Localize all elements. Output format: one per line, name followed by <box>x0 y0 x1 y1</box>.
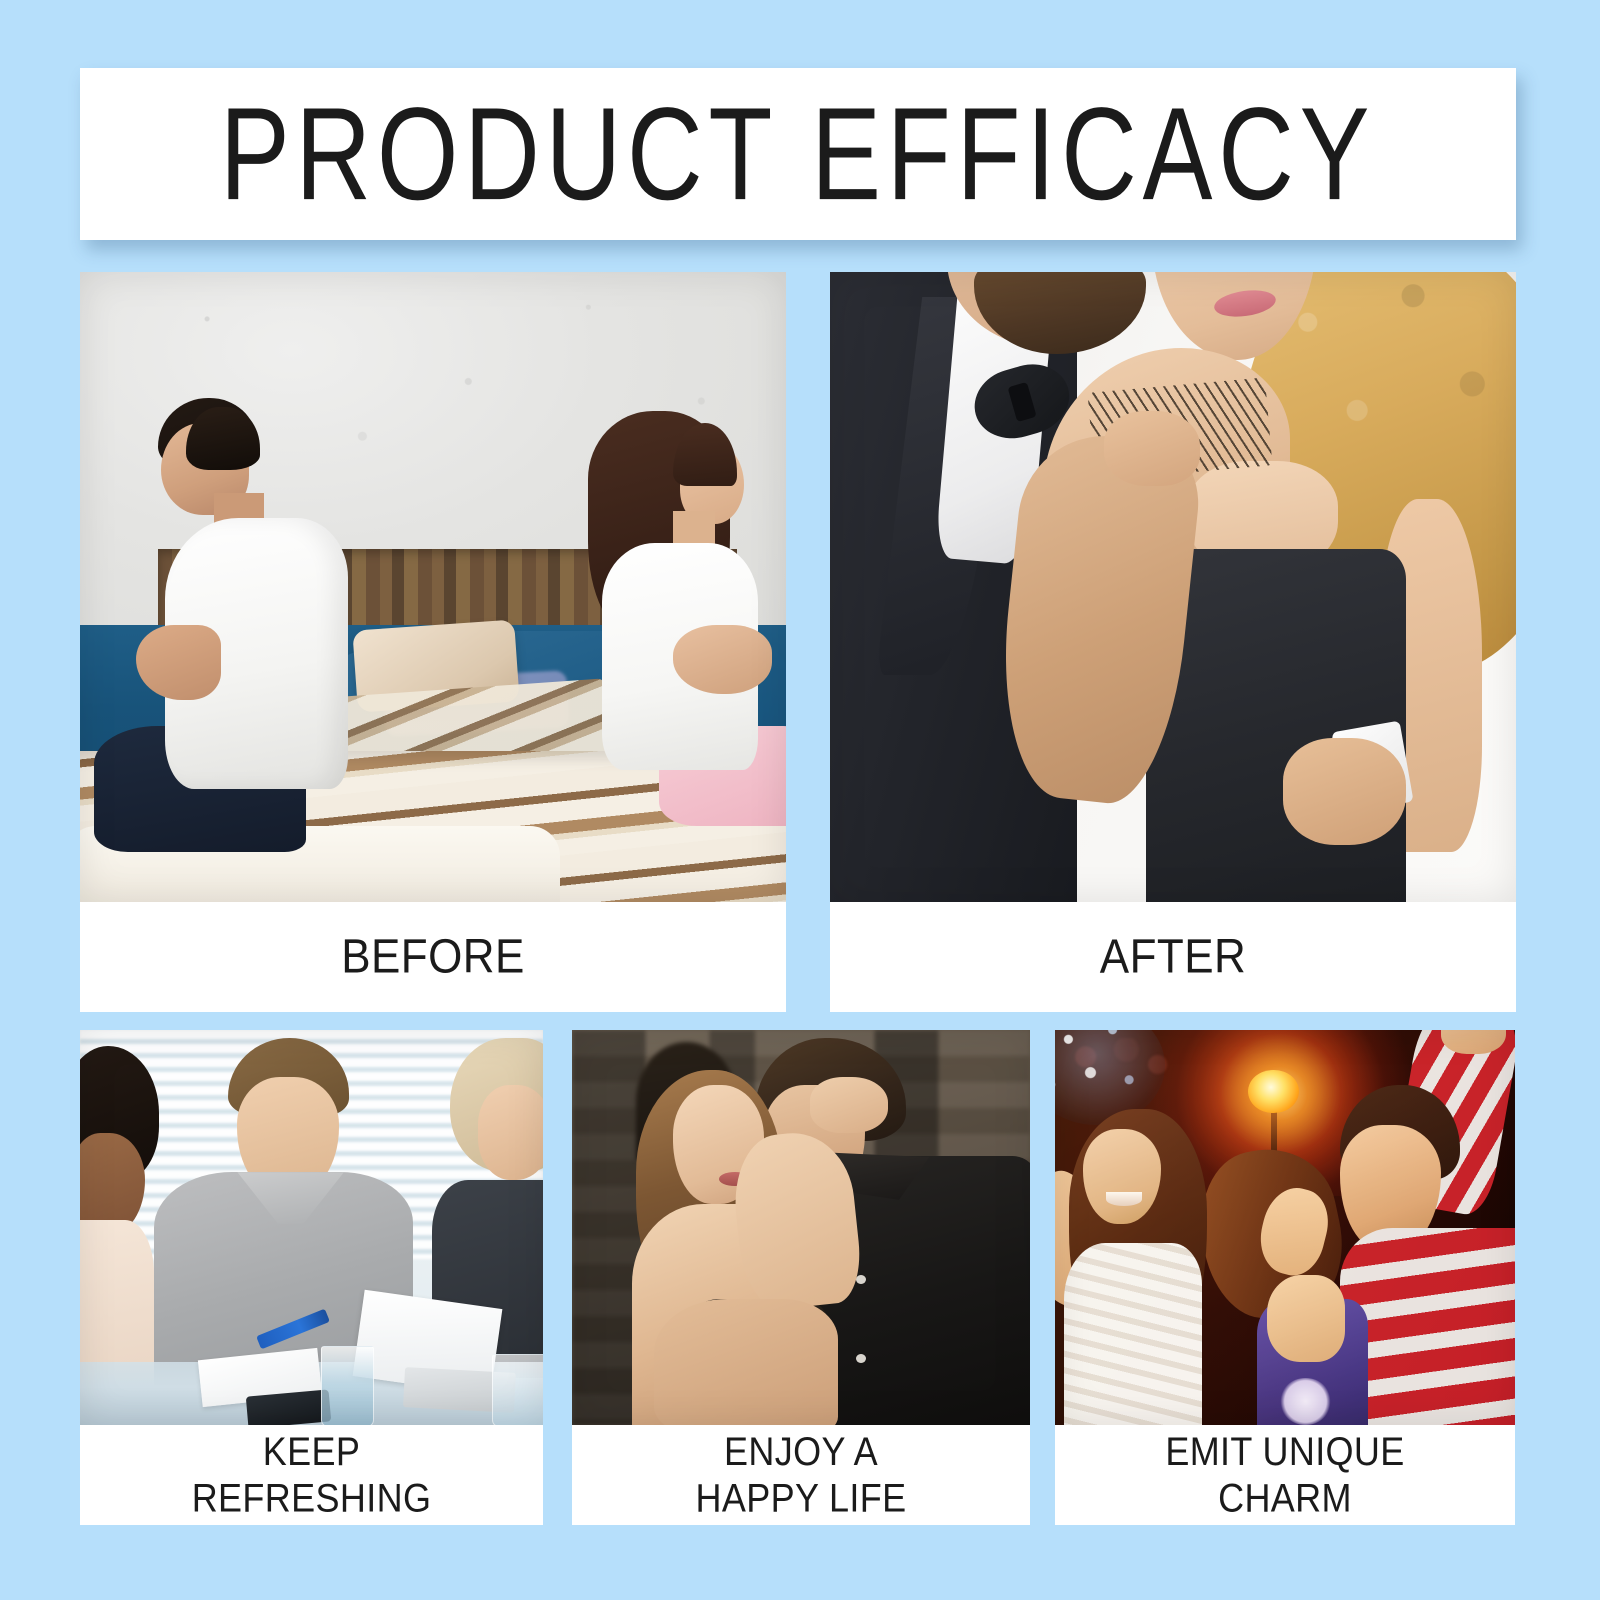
woman-crossed-arms <box>673 625 772 694</box>
after-caption-label: AFTER <box>1100 928 1246 985</box>
colored-light-wash <box>1055 1030 1515 1425</box>
water-glass <box>321 1346 374 1425</box>
before-caption: BEFORE <box>80 902 786 1012</box>
before-card: BEFORE <box>80 272 786 1012</box>
man-embracing-arm <box>654 1299 837 1425</box>
benefit-card-keep-refreshing: KEEPREFRESHING <box>80 1030 543 1525</box>
woman-hand-on-head <box>810 1077 888 1132</box>
after-caption: AFTER <box>830 902 1516 1012</box>
header-banner: PRODUCT EFFICACY <box>80 68 1516 240</box>
product-efficacy-infographic: PRODUCT EFFICACY <box>0 0 1600 1600</box>
before-caption-label: BEFORE <box>341 928 525 985</box>
man-hand-on-waist <box>1283 738 1406 845</box>
after-card: AFTER <box>830 272 1516 1012</box>
emit-unique-charm-label: EMIT UNIQUECHARM <box>1165 1428 1404 1521</box>
enjoy-happy-life-label: ENJOY AHAPPY LIFE <box>695 1428 906 1521</box>
after-photo <box>830 272 1516 902</box>
man-hand-on-shoulder <box>1104 411 1200 487</box>
before-photo <box>80 272 786 902</box>
keep-refreshing-label: KEEPREFRESHING <box>192 1428 432 1521</box>
water-glass <box>492 1354 543 1425</box>
keep-refreshing-caption: KEEPREFRESHING <box>80 1425 543 1525</box>
man-hair-top <box>186 407 260 470</box>
enjoy-happy-life-caption: ENJOY AHAPPY LIFE <box>572 1425 1030 1525</box>
blonde-woman-face <box>478 1085 543 1180</box>
emit-unique-charm-caption: EMIT UNIQUECHARM <box>1055 1425 1515 1525</box>
romantic-couple-photo <box>572 1030 1030 1425</box>
benefit-card-enjoy-happy-life: ENJOY AHAPPY LIFE <box>572 1030 1030 1525</box>
benefit-card-emit-unique-charm: EMIT UNIQUECHARM <box>1055 1030 1515 1525</box>
tablet-device <box>245 1390 331 1425</box>
office-meeting-photo <box>80 1030 543 1425</box>
nightclub-photo <box>1055 1030 1515 1425</box>
page-title: PRODUCT EFFICACY <box>220 88 1375 220</box>
